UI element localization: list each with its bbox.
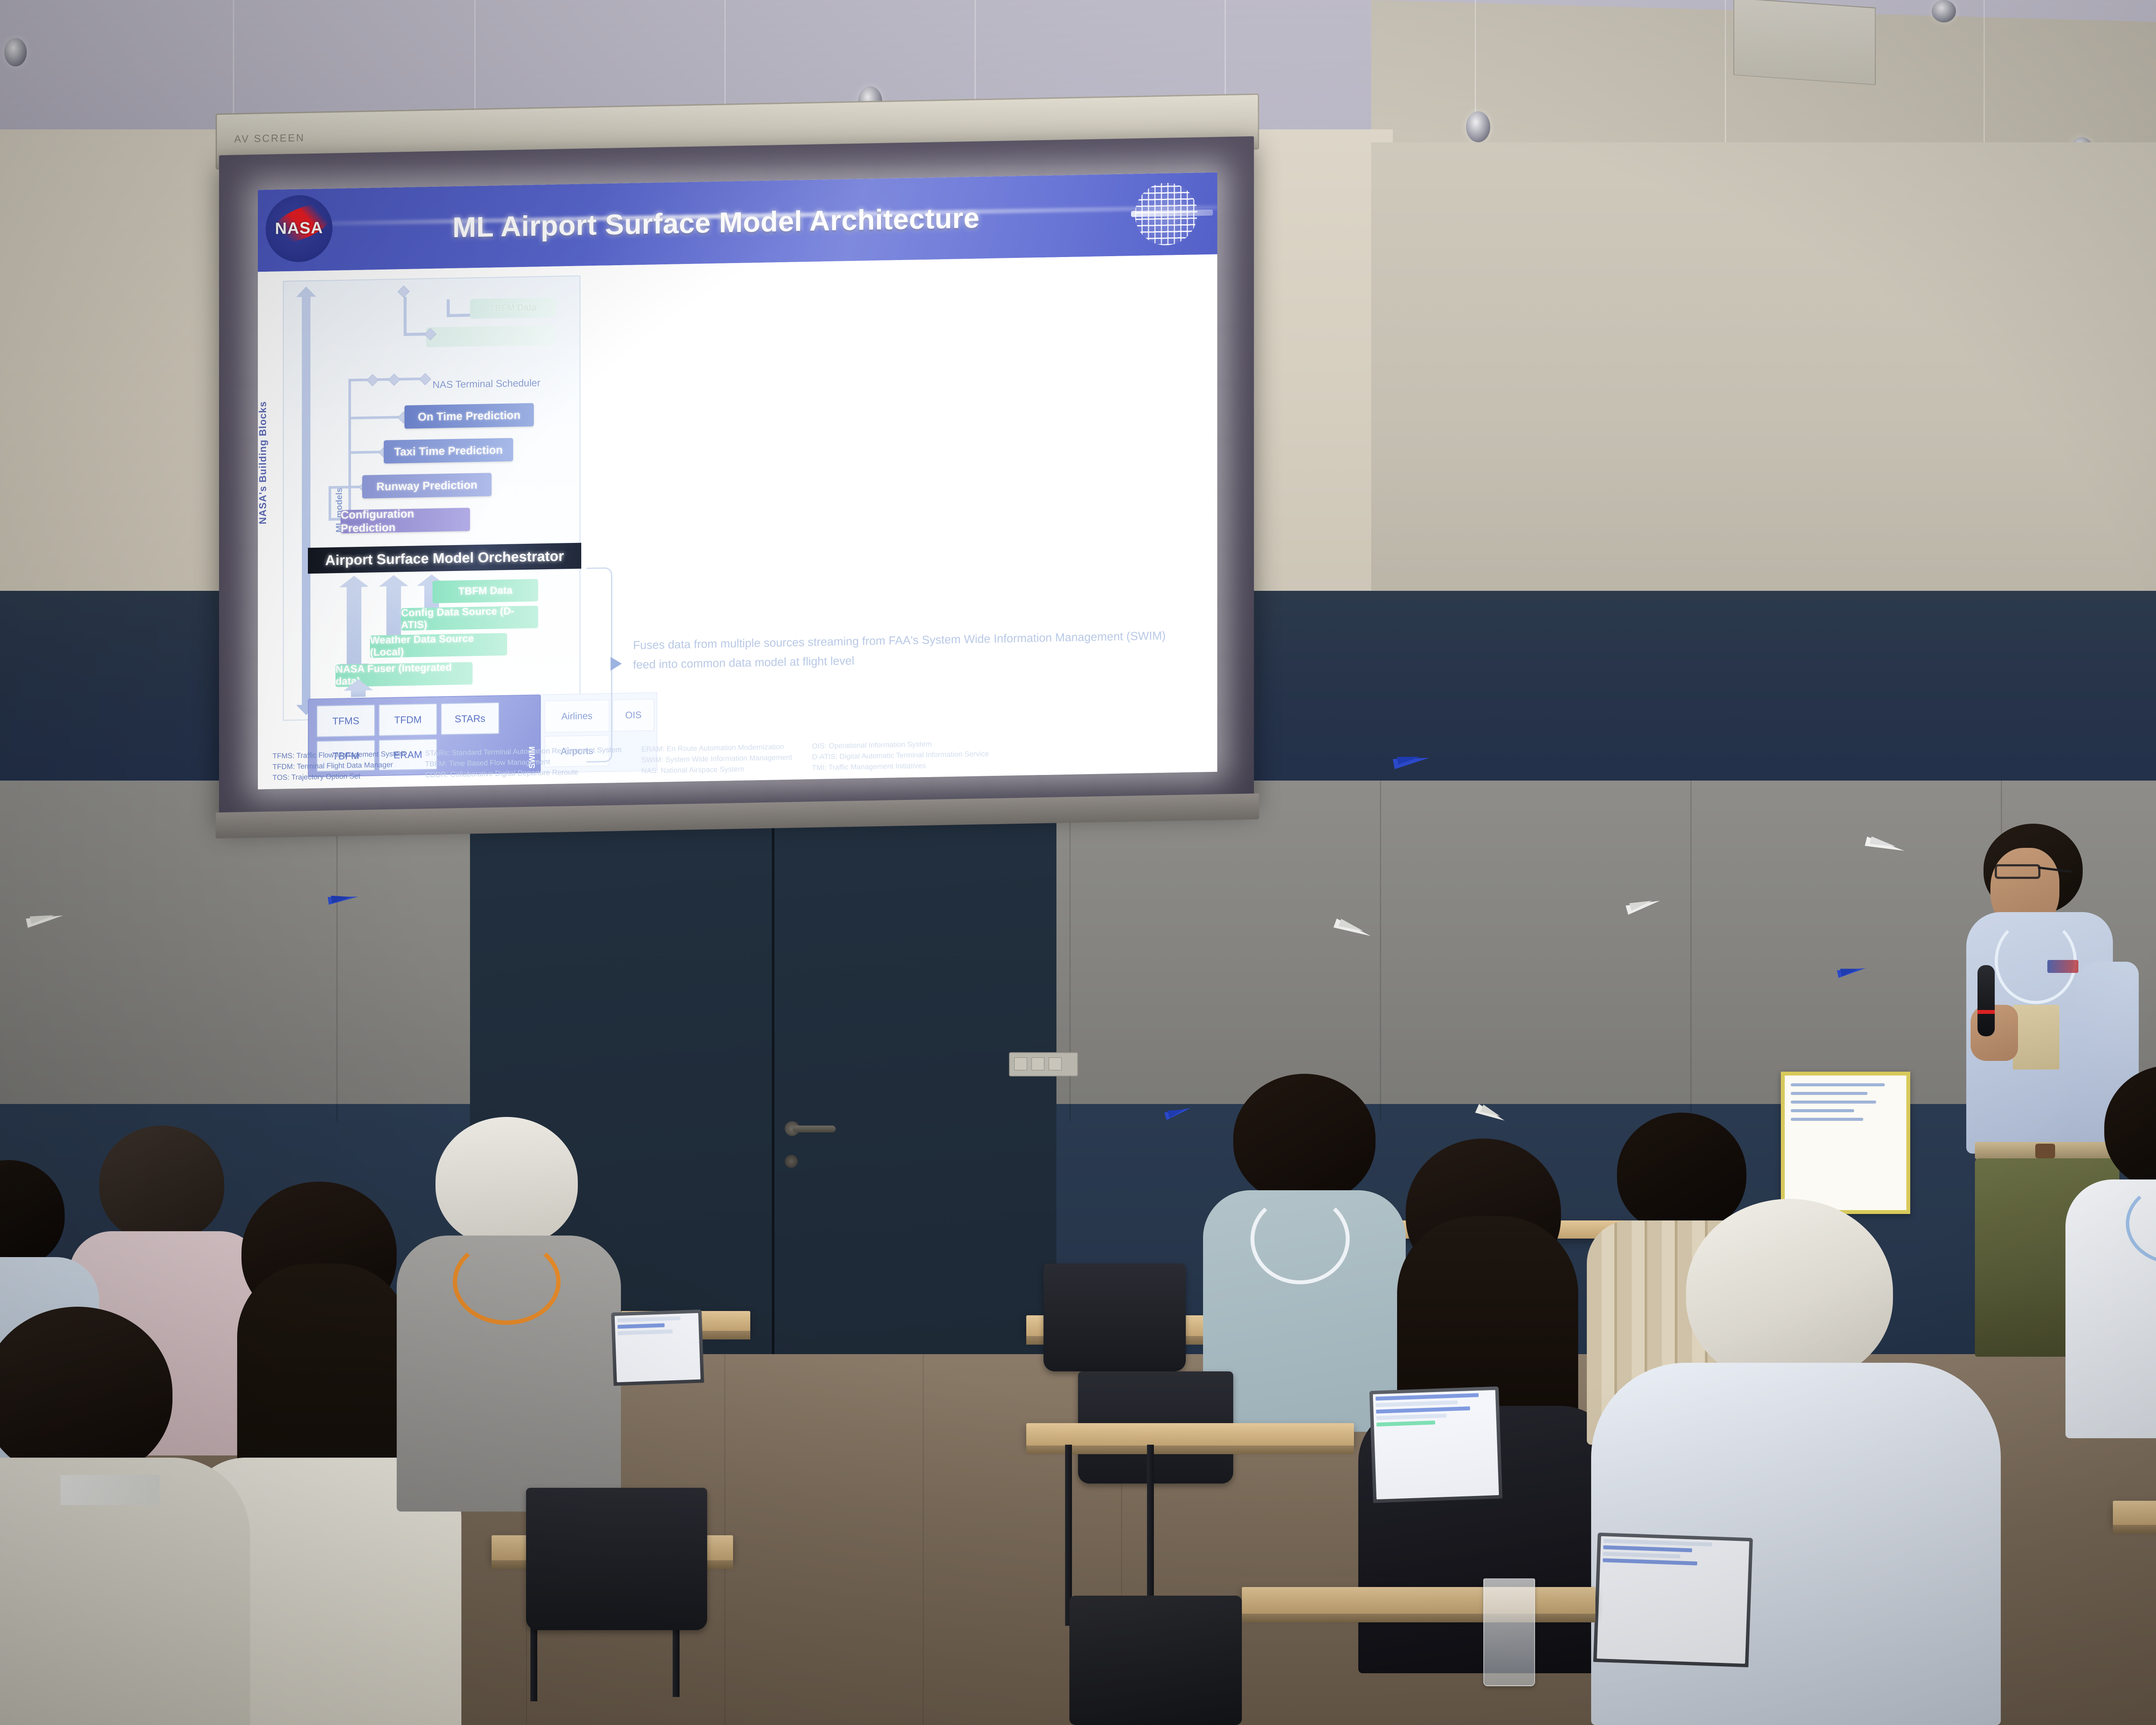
- legend-item: SWIM: System Wide Information Management: [641, 753, 792, 765]
- badge: [60, 1475, 160, 1505]
- hair: [1617, 1113, 1746, 1233]
- presentation-slide: NASA ML Airport Surface Model Architectu…: [258, 172, 1217, 790]
- presenter-badge: [2013, 1005, 2059, 1069]
- tfms-box: TFMS: [317, 704, 375, 737]
- orchestrator-bar: Airport Surface Model Orchestrator: [308, 543, 581, 574]
- tfdm-box: TFDM: [379, 703, 437, 736]
- upper-wall-right: [1371, 142, 2156, 625]
- slide-body: NASA's Building Blocks ML models TBFM Da…: [258, 254, 1217, 790]
- laptop[interactable]: [1593, 1533, 1753, 1667]
- hair: [1233, 1074, 1376, 1203]
- legend-item: TBFM: Time Based Flow Management: [425, 756, 622, 768]
- legend-column-2: STARs: Standard Terminal Automation Repl…: [425, 746, 622, 779]
- callout-brace: [586, 567, 612, 762]
- ceiling-downlight: [1932, 0, 1956, 22]
- legend-column-4: OIS: Operational Information System D-AT…: [812, 739, 989, 772]
- door-leaf-right[interactable]: [774, 793, 1056, 1427]
- legend-item: ERAM: En Route Automation Modernization: [641, 743, 792, 754]
- laptop[interactable]: [611, 1309, 704, 1386]
- data-flow-arrow-icon: [386, 586, 401, 642]
- ois-box: OIS: [613, 699, 654, 732]
- stars-box: STARs: [441, 702, 499, 735]
- desk: [2113, 1501, 2156, 1526]
- door-handle[interactable]: [793, 1126, 836, 1132]
- backpack[interactable]: [1069, 1596, 1242, 1725]
- lanyard: [453, 1239, 561, 1325]
- taxi-time-prediction-box: Taxi Time Prediction: [384, 438, 513, 463]
- laptop[interactable]: [1369, 1386, 1503, 1503]
- door-lock[interactable]: [785, 1155, 798, 1168]
- building-blocks-axis-label: NASA's Building Blocks: [258, 401, 269, 524]
- tbfm-data-box: TBFM Data: [432, 579, 538, 603]
- conference-poster: [1781, 1072, 1910, 1214]
- conference-room-scene: AV SCREEN NASA ML Airport Surface Model …: [0, 0, 2156, 1725]
- on-time-prediction-box: On Time Prediction: [404, 403, 534, 429]
- hair: [436, 1117, 578, 1246]
- presenter-pocket-logo: [2047, 960, 2078, 973]
- architecture-diagram: ML models TBFM Data NAS Terminal Schedul…: [283, 276, 580, 721]
- legend-item: TFDM: Terminal Flight Data Manager: [273, 760, 405, 772]
- legend-column-3: ERAM: En Route Automation Modernization …: [641, 743, 792, 775]
- hair: [1686, 1199, 1893, 1384]
- fuser-input-arrow-icon: [351, 690, 366, 697]
- chair[interactable]: [526, 1488, 707, 1630]
- data-flow-arrow-icon: [347, 586, 361, 665]
- config-data-source-box: Config Data Source (D-ATIS): [401, 605, 538, 630]
- hair: [99, 1126, 224, 1242]
- weather-data-source-box: Weather Data Source (Local): [370, 633, 507, 658]
- legend-item: CDDR: Collaborative Digital Departure Re…: [425, 767, 622, 779]
- legend-column-1: TFMS: Traffic Flow Management System TFD…: [273, 750, 405, 782]
- lanyard: [1250, 1194, 1350, 1284]
- desk: [1026, 1423, 1354, 1446]
- callout-text: Fuses data from multiple sources streami…: [633, 626, 1172, 674]
- presenter-belt-buckle: [2035, 1144, 2055, 1158]
- desk-leg: [1147, 1445, 1154, 1617]
- callout-arrow-icon: [611, 657, 622, 671]
- tos-box: TBFM Data: [470, 298, 556, 319]
- ceiling-downlight: [4, 38, 27, 66]
- legend-item: OIS: Operational Information System: [812, 739, 989, 751]
- legend-item: TMI: Traffic Management Initiatives: [812, 760, 989, 772]
- configuration-prediction-box: Configuration Prediction: [341, 508, 470, 533]
- presenter-glasses-icon: [1995, 864, 2040, 879]
- nas-terminal-scheduler-label: NAS Terminal Scheduler: [432, 377, 540, 391]
- projection-screen: NASA ML Airport Surface Model Architectu…: [219, 136, 1254, 822]
- legend-item: NAS: National Airspace System: [641, 764, 792, 775]
- ceiling-vent: [1733, 0, 1876, 85]
- microphone[interactable]: [1977, 965, 1995, 1036]
- ceiling-downlight: [1466, 111, 1490, 142]
- legend-item: TOS: Trajectory Option Set: [273, 771, 405, 782]
- building-blocks-arrow-icon: [302, 296, 310, 706]
- legend-item: TFMS: Traffic Flow Management System: [273, 750, 405, 761]
- water-glass[interactable]: [1483, 1578, 1535, 1686]
- housing-label: AV SCREEN: [234, 132, 305, 145]
- desk: [1242, 1587, 1595, 1615]
- runway-prediction-box: Runway Prediction: [362, 473, 492, 498]
- chair[interactable]: [1044, 1264, 1186, 1371]
- legend-item: D-ATIS: Digital Automatic Terminal Infor…: [812, 750, 989, 762]
- slide-title: ML Airport Surface Model Architecture: [258, 197, 1217, 248]
- tmi-box: [426, 325, 555, 347]
